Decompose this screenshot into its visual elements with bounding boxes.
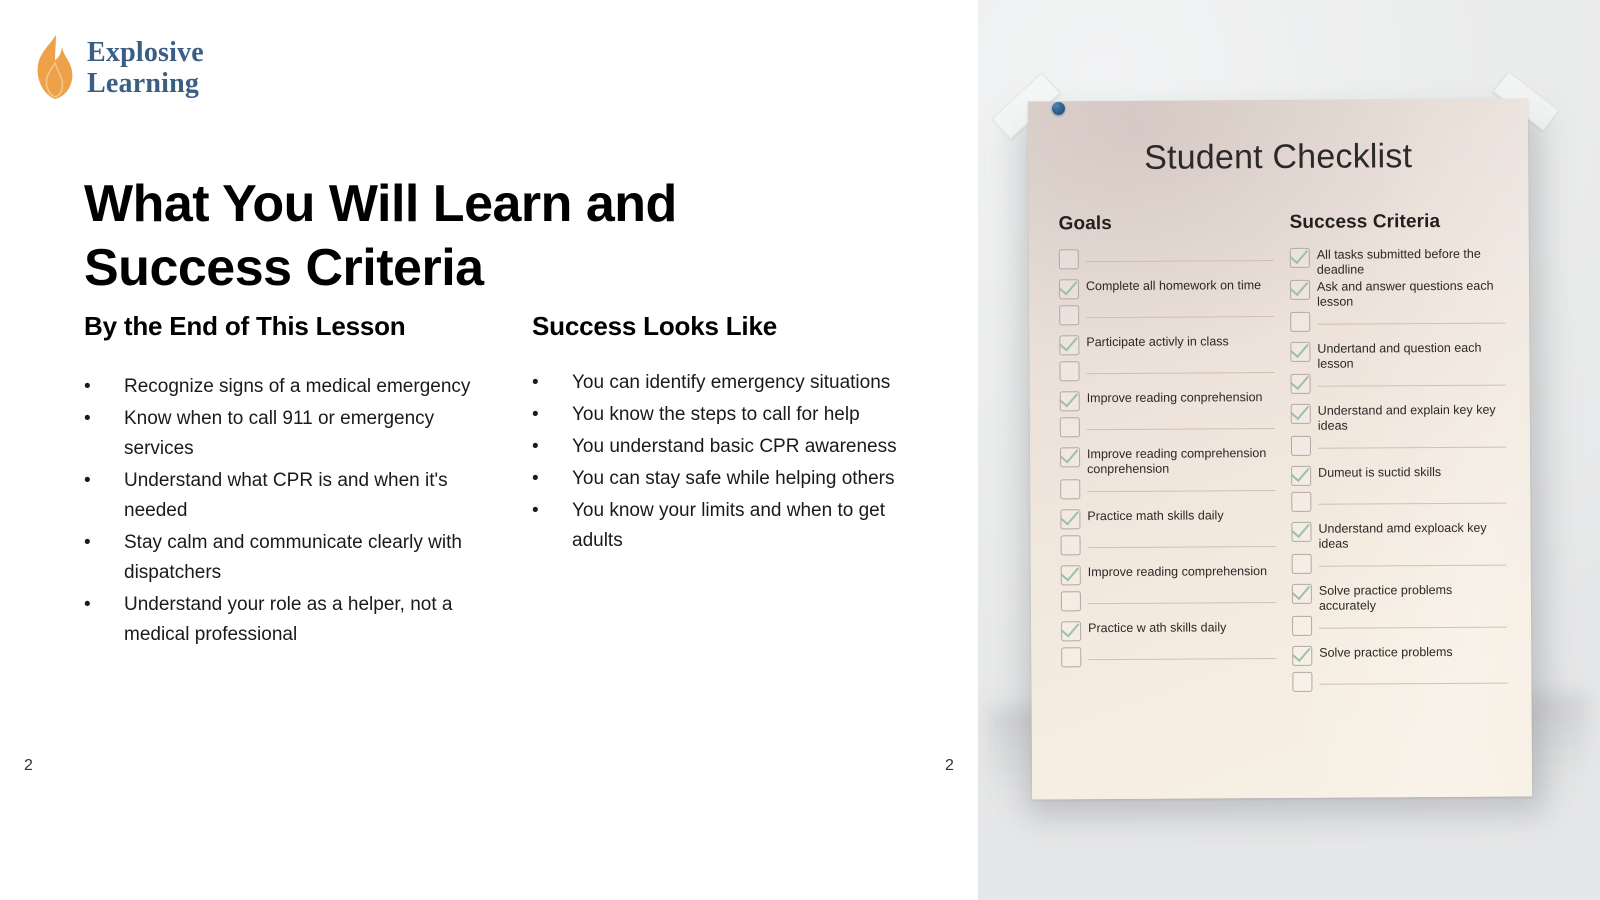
checklist-row-rule [1087,372,1275,374]
checkbox-checked-icon[interactable] [1292,646,1312,666]
checklist-row[interactable]: All tasks submitted before the deadline [1290,245,1505,277]
slide-root: Explosive Learning What You Will Learn a… [0,0,1600,900]
poster-column-goals: Goals Complete all homework on timeParti… [1059,212,1277,701]
checklist-row[interactable] [1292,551,1507,577]
checklist-row[interactable]: Solve practice problems accurately [1292,581,1507,613]
goals-checklist: Complete all homework on timeParticipate… [1059,246,1277,670]
checklist-row-label: All tasks submitted before the deadline [1317,245,1505,277]
list-item-text: You know your limits and when to get adu… [572,500,885,551]
checkbox-checked-icon[interactable] [1290,280,1310,300]
poster-columns: Goals Complete all homework on timeParti… [1059,211,1508,702]
checklist-row[interactable] [1291,371,1506,397]
list-item: •You know your limits and when to get ad… [532,496,936,556]
checklist-row-label: Solve practice problems [1319,643,1453,660]
checklist-row[interactable]: Dumeut is suctid skills [1291,463,1506,489]
checkbox-checked-icon[interactable] [1290,248,1310,268]
list-item: •Stay calm and communicate clearly with … [84,528,488,588]
column-success: Success Looks Like •You can identify eme… [532,308,936,652]
bullet-glyph: • [532,432,539,462]
checklist-row-label: Ask and answer questions each lesson [1317,277,1505,309]
checkbox-checked-icon[interactable] [1060,391,1080,411]
checklist-row-label: Dumeut is suctid skills [1318,463,1441,480]
list-item: •You understand basic CPR awareness [532,432,936,462]
checkbox-empty-icon[interactable] [1059,305,1079,325]
checklist-row-label: Improve reading conprehension [1087,388,1263,406]
checklist-row[interactable] [1061,644,1276,670]
bullet-glyph: • [532,368,539,398]
list-item-text: You can identify emergency situations [572,372,890,393]
list-item-text: Understand what CPR is and when it's nee… [124,470,448,521]
checklist-row[interactable] [1061,532,1276,558]
list-item-text: Recognize signs of a medical emergency [124,376,470,397]
checklist-row-rule [1318,385,1506,387]
checkbox-checked-icon[interactable] [1061,565,1081,585]
checklist-row[interactable] [1290,309,1505,335]
bullet-glyph: • [532,400,539,430]
slide-content-pane: Explosive Learning What You Will Learn a… [0,0,978,900]
bullet-glyph: • [532,464,539,494]
brand-wordmark: Explosive Learning [87,37,204,100]
bullet-glyph: • [84,466,91,496]
checkbox-empty-icon[interactable] [1290,312,1310,332]
checkbox-empty-icon[interactable] [1291,492,1311,512]
bullet-glyph: • [84,528,91,558]
checkbox-checked-icon[interactable] [1059,279,1079,299]
list-item-text: Know when to call 911 or emergency servi… [124,408,434,459]
column-heading: Success Looks Like [532,308,936,346]
checkbox-empty-icon[interactable] [1060,479,1080,499]
bullet-list: •Recognize signs of a medical emergency … [84,372,488,650]
checklist-row-label: Practice math skills daily [1087,506,1223,523]
checklist-row[interactable]: Practice w ath skills daily [1061,618,1276,644]
checklist-row-rule [1088,658,1276,660]
page-number-left: 2 [24,757,33,775]
checklist-row[interactable] [1059,358,1274,384]
checkbox-empty-icon[interactable] [1061,591,1081,611]
column-heading: By the End of This Lesson [84,308,488,346]
checklist-row-rule [1319,683,1507,685]
checkbox-checked-icon[interactable] [1292,584,1312,604]
student-checklist-poster: Student Checklist Goals Complete all hom… [1028,98,1532,799]
checklist-row-rule [1086,260,1274,262]
checklist-row[interactable]: Practice math skills daily [1060,506,1275,532]
checkbox-empty-icon[interactable] [1292,554,1312,574]
page-title: What You Will Learn and Success Criteria [84,173,724,301]
checklist-row[interactable] [1292,613,1507,639]
checkbox-checked-icon[interactable] [1290,342,1310,362]
checklist-row[interactable] [1059,302,1274,328]
checklist-row[interactable]: Understand amd exploack key ideas [1291,519,1506,551]
checklist-row[interactable]: Understand and explain key key ideas [1291,401,1506,433]
checklist-row-label: Participate activly in class [1086,332,1229,349]
poster-title: Student Checklist [1028,136,1528,178]
checklist-row[interactable] [1292,669,1507,695]
list-item: •You can identify emergency situations [532,368,936,398]
bullet-glyph: • [84,372,91,402]
column-goals: By the End of This Lesson •Recognize sig… [84,308,488,652]
poster-photo-pane: Student Checklist Goals Complete all hom… [978,0,1600,900]
checklist-row-label: Improve reading comprehension conprehens… [1087,444,1275,476]
checkbox-empty-icon[interactable] [1061,647,1081,667]
list-item: •Know when to call 911 or emergency serv… [84,404,488,464]
checklist-row-rule [1318,503,1506,505]
checklist-row-rule [1087,428,1275,430]
content-columns: By the End of This Lesson •Recognize sig… [84,308,936,652]
bullet-glyph: • [84,590,91,620]
checklist-row-label: Understand amd exploack key ideas [1318,519,1506,551]
checklist-row-rule [1318,447,1506,449]
checkbox-empty-icon[interactable] [1292,616,1312,636]
checklist-row[interactable] [1059,246,1274,272]
list-item-text: Stay calm and communicate clearly with d… [124,532,462,583]
bullet-list: •You can identify emergency situations •… [532,368,936,556]
checklist-row[interactable] [1060,476,1275,502]
poster-column-header-success: Success Criteria [1290,211,1505,234]
checklist-row-label: Practice w ath skills daily [1088,618,1226,635]
checklist-row[interactable]: Solve practice problems [1292,643,1507,669]
list-item-text: Understand your role as a helper, not a … [124,594,452,645]
checklist-row[interactable]: Undertand and question each lesson [1290,339,1505,371]
list-item: •Understand your role as a helper, not a… [84,590,488,650]
checkbox-empty-icon[interactable] [1291,436,1311,456]
list-item: •Understand what CPR is and when it's ne… [84,466,488,526]
checkbox-checked-icon[interactable] [1291,374,1311,394]
checklist-row-rule [1087,490,1275,492]
bullet-glyph: • [84,404,91,434]
list-item-text: You know the steps to call for help [572,404,860,425]
checklist-row[interactable] [1291,433,1506,459]
checklist-row[interactable]: Improve reading conprehension [1060,388,1275,414]
bullet-glyph: • [532,496,539,526]
brand-line-1: Explosive [87,37,204,68]
list-item-text: You can stay safe while helping others [572,468,895,489]
checkbox-empty-icon[interactable] [1292,672,1312,692]
list-item: •You know the steps to call for help [532,400,936,430]
checklist-row[interactable] [1291,489,1506,515]
list-item-text: You understand basic CPR awareness [572,436,897,457]
checklist-row[interactable]: Ask and answer questions each lesson [1290,277,1505,309]
list-item: •You can stay safe while helping others [532,464,936,494]
checklist-row-rule [1319,627,1507,629]
poster-column-success-criteria: Success Criteria All tasks submitted bef… [1290,211,1508,700]
checkbox-checked-icon[interactable] [1060,509,1080,529]
page-number-right: 2 [945,757,954,775]
list-item: •Recognize signs of a medical emergency [84,372,488,402]
checkbox-empty-icon[interactable] [1059,361,1079,381]
checklist-row[interactable]: Complete all homework on time [1059,276,1274,302]
checkbox-checked-icon[interactable] [1061,621,1081,641]
checklist-row-rule [1317,323,1505,325]
checklist-row-label: Improve reading comprehension [1088,562,1267,580]
checkbox-empty-icon[interactable] [1060,417,1080,437]
checkbox-checked-icon[interactable] [1059,335,1079,355]
checkbox-checked-icon[interactable] [1291,522,1311,542]
checklist-row-label: Complete all homework on time [1086,276,1261,294]
checklist-row[interactable] [1060,414,1275,440]
checklist-row-rule [1088,602,1276,604]
checkbox-checked-icon[interactable] [1060,447,1080,467]
checkbox-empty-icon[interactable] [1061,535,1081,555]
success-criteria-checklist: All tasks submitted before the deadlineA… [1290,245,1508,695]
checkbox-empty-icon[interactable] [1059,249,1079,269]
checklist-row-label: Solve practice problems accurately [1319,581,1507,613]
pushpin-icon [1052,102,1065,115]
poster-column-header-goals: Goals [1059,212,1274,235]
checklist-row[interactable]: Improve reading comprehension conprehens… [1060,444,1275,476]
checklist-row-rule [1319,565,1507,567]
checkbox-checked-icon[interactable] [1291,466,1311,486]
checklist-row[interactable] [1061,588,1276,614]
checklist-row-label: Understand and explain key key ideas [1318,401,1506,433]
checklist-row-rule [1088,546,1276,548]
brand-logo: Explosive Learning [31,33,204,103]
checklist-row[interactable]: Improve reading comprehension [1061,562,1276,588]
checklist-row[interactable]: Participate activly in class [1059,332,1274,358]
checklist-row-rule [1086,316,1274,318]
checkbox-checked-icon[interactable] [1291,404,1311,424]
brand-line-2: Learning [87,68,204,99]
flame-icon [31,33,77,103]
checklist-row-label: Undertand and question each lesson [1317,339,1505,371]
